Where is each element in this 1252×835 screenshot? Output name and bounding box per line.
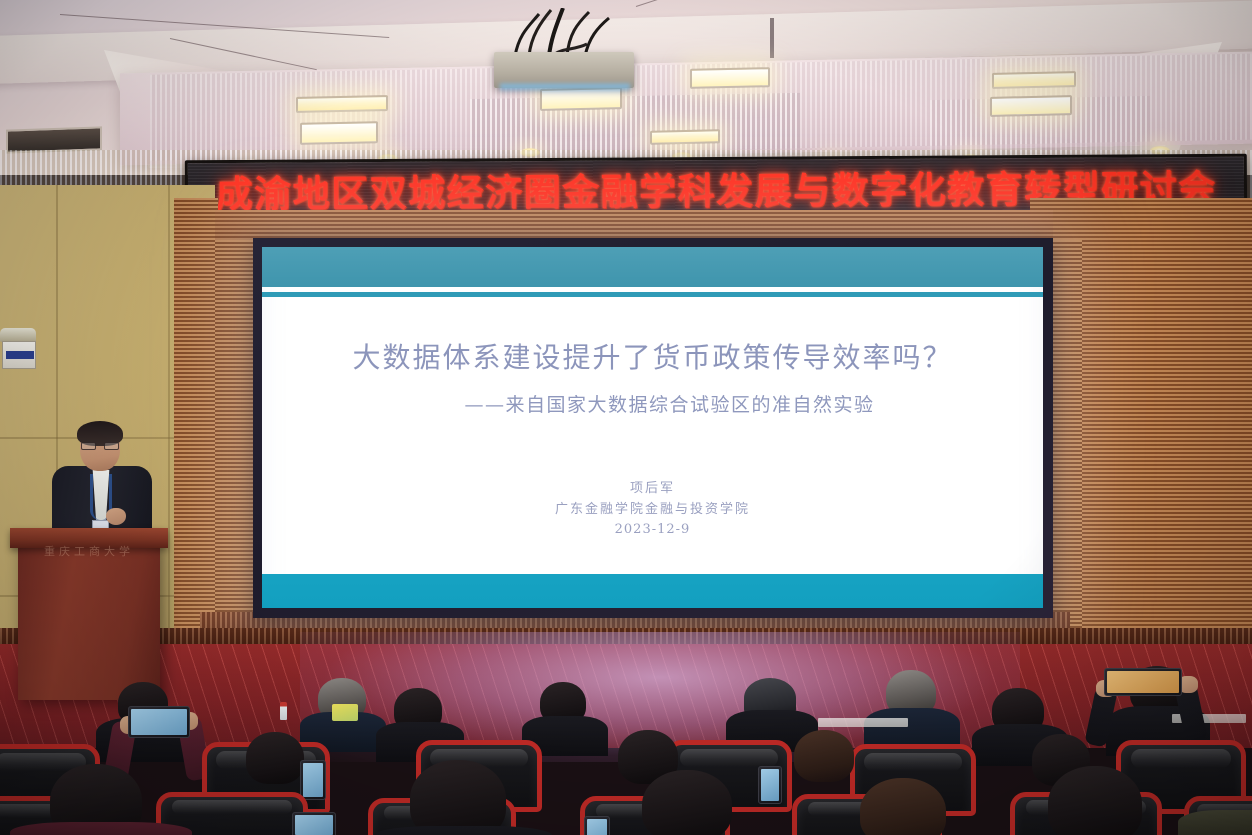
slide-subtitle: ——来自国家大数据综合试验区的准自然实验 (464, 390, 874, 417)
snack-box (332, 704, 358, 721)
audience-shoulders (1178, 810, 1252, 835)
projector-cables (505, 8, 625, 58)
presentation-slide: 大数据体系建设提升了货币政策传导效率吗？ ——来自国家大数据综合试验区的准自然实… (262, 247, 1043, 608)
ceiling-light-panel (990, 95, 1072, 117)
audience-head (860, 778, 946, 835)
slide-author-affiliation: 广东金融学院金融与投资学院 (555, 500, 750, 521)
ceiling-light-panel (992, 71, 1076, 89)
ceiling-projector (494, 52, 634, 88)
ceiling-wire (770, 18, 774, 58)
slide-author-block: 项后军 广东金融学院金融与投资学院 2023-12-9 (555, 479, 750, 541)
projection-screen: 大数据体系建设提升了货币政策传导效率吗？ ——来自国家大数据综合试验区的准自然实… (253, 238, 1053, 618)
audience-phone (1104, 668, 1182, 696)
glasses-icon (81, 442, 119, 450)
emergency-exit-light (2, 341, 36, 369)
audience-head (794, 730, 854, 782)
slide-top-band (262, 247, 1043, 287)
slide-author-name: 项后军 (555, 479, 750, 500)
audience-phone (300, 760, 326, 800)
slide-body: 大数据体系建设提升了货币政策传导效率吗？ ——来自国家大数据综合试验区的准自然实… (262, 302, 1043, 572)
front-table (818, 718, 908, 727)
exit-sign-label (6, 351, 34, 359)
projector-lens-glow (500, 84, 630, 92)
left-wood-slat-column (174, 198, 218, 648)
stage-front-trim (0, 628, 1252, 644)
wall-slats-left-of-screen (215, 240, 257, 630)
ceiling-light-panel (650, 129, 720, 144)
audience-head (1048, 766, 1142, 835)
audience-head (246, 732, 304, 784)
speaker-hand (106, 508, 126, 525)
slide-title: 大数据体系建设提升了货币政策传导效率吗？ (352, 336, 952, 376)
podium-engraved-text: 重庆工商大学 (26, 543, 152, 558)
slide-top-rule (262, 292, 1043, 297)
ceiling-light-panel (300, 121, 378, 145)
conference-hall-photo: 成渝地区双城经济圈金融学科发展与数字化教育转型研讨会 大数据体系建设提升了货币政… (0, 0, 1252, 835)
audience-phone (128, 706, 190, 738)
slide-bottom-band (262, 574, 1043, 608)
water-bottle (280, 702, 287, 720)
ceiling-light-panel (690, 67, 770, 89)
ceiling-light-panel (296, 95, 388, 113)
audience-head (410, 760, 506, 835)
audience-shoulders (374, 826, 552, 835)
audience-area (0, 660, 1252, 835)
ceiling-wire (636, 0, 712, 7)
ceiling (0, 0, 1252, 175)
audience-shoulders (10, 822, 192, 835)
audience-phone (758, 766, 782, 804)
audience-phone (584, 816, 610, 835)
emergency-lamp-heads (0, 328, 36, 342)
audience-head (642, 770, 732, 835)
wall-seam (168, 185, 170, 665)
slide-date: 2023-12-9 (555, 520, 750, 541)
audience-phone (292, 812, 336, 835)
